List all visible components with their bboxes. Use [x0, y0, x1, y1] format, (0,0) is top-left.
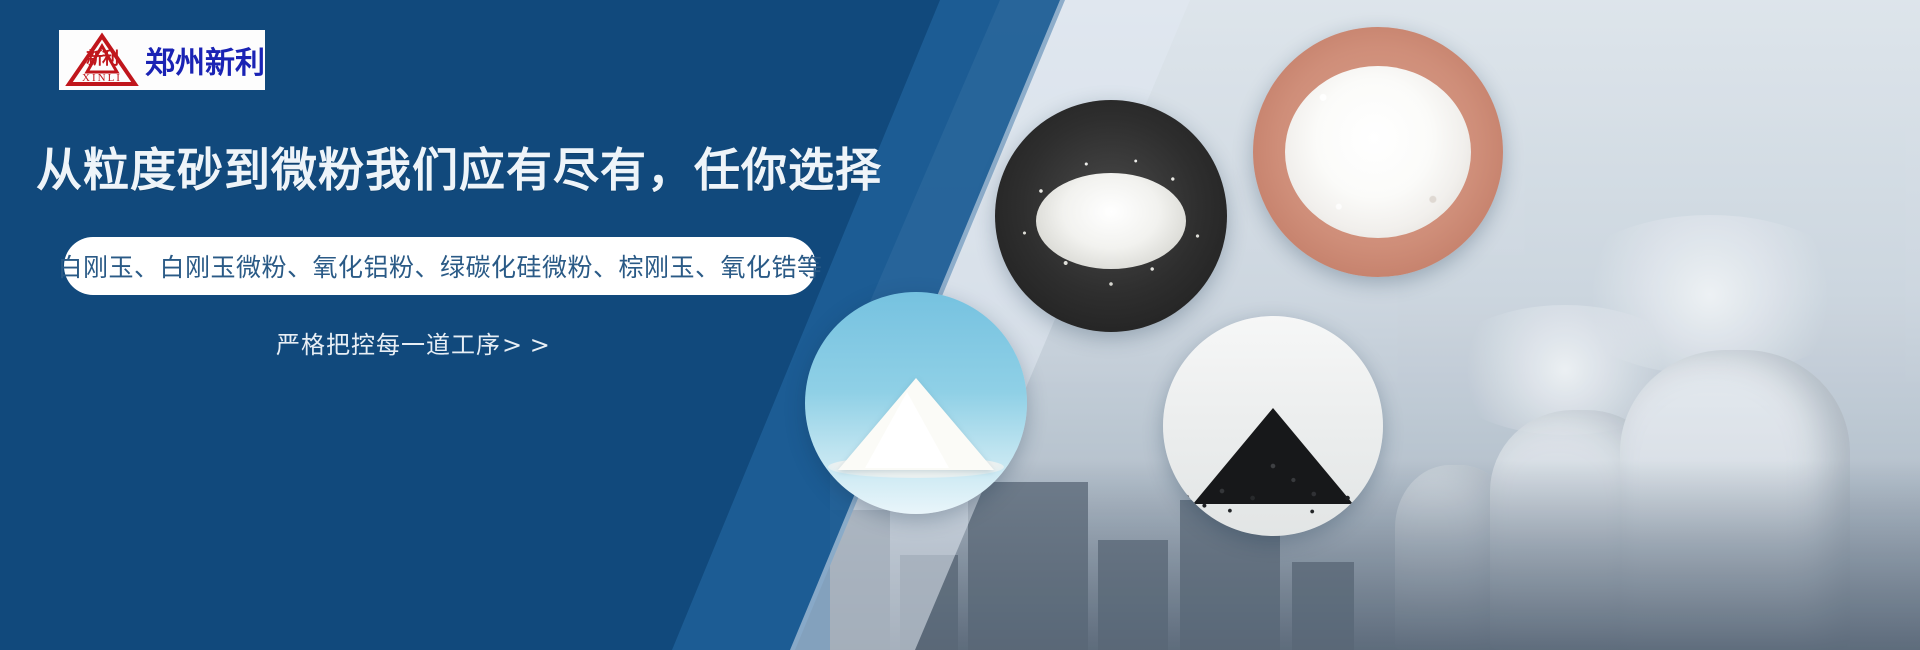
material-cone-highlight	[865, 392, 949, 468]
scattered-grains	[1175, 472, 1371, 514]
powder-texture	[1280, 61, 1476, 243]
product-photo-alumina-micropowder	[1253, 27, 1503, 277]
photo-dish	[805, 292, 1027, 514]
photo-dish	[1253, 27, 1503, 277]
headline: 从粒度砂到微粉我们应有尽有，任你选择	[36, 143, 882, 197]
scattered-grains	[1008, 146, 1214, 296]
process-link-label: 严格把控每一道工序	[276, 331, 501, 359]
building	[1292, 562, 1354, 650]
product-photo-green-silicon-carbide-grit	[1163, 316, 1383, 536]
product-list-text: 白刚玉、白刚玉微粉、氧化铝粉、绿碳化硅微粉、棕刚玉、氧化锆等	[58, 248, 823, 284]
building	[1098, 540, 1168, 650]
chevron-right-icon: > >	[502, 331, 550, 359]
logo-mark-latin-text: XINLI	[69, 73, 135, 84]
product-list-pill: 白刚玉、白刚玉微粉、氧化铝粉、绿碳化硅微粉、棕刚玉、氧化锆等	[64, 237, 816, 295]
photo-dish	[1163, 316, 1383, 536]
product-photo-white-powder-cone	[805, 292, 1027, 514]
logo-mark-cn-text: 新利	[71, 51, 133, 68]
product-photo-white-fused-alumina-grit	[995, 100, 1227, 332]
company-logo[interactable]: 新利 XINLI 郑州新利	[59, 30, 265, 90]
process-link[interactable]: 严格把控每一道工序> >	[276, 325, 550, 360]
logo-wordmark: 郑州新利	[145, 38, 265, 82]
photo-dish	[995, 100, 1227, 332]
promo-banner: 新利 XINLI 郑州新利 从粒度砂到微粉我们应有尽有，任你选择 白刚玉、白刚玉…	[0, 0, 1920, 650]
triangle-mark-icon: 新利 XINLI	[65, 32, 139, 88]
